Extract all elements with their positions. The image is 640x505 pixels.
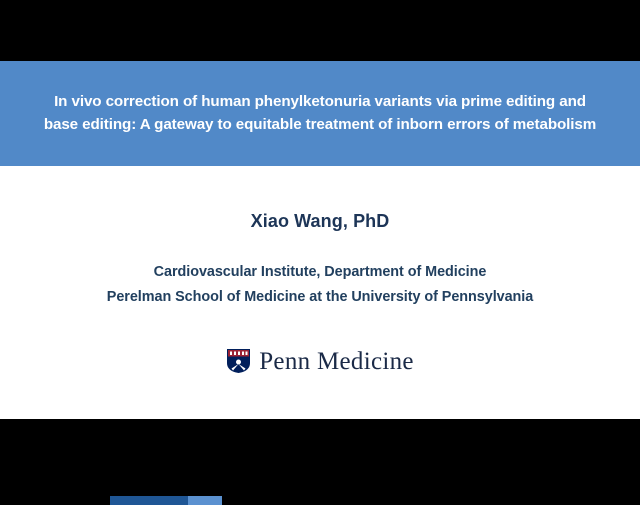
speaker-name: Xiao Wang, PhD <box>0 211 640 232</box>
affiliation-block: Cardiovascular Institute, Department of … <box>0 260 640 310</box>
accent-segment-light-blue <box>188 496 222 505</box>
letterbox-top <box>0 0 640 61</box>
affiliation-line-2: Perelman School of Medicine at the Unive… <box>0 285 640 310</box>
accent-segment-dark-blue <box>110 496 188 505</box>
slide-body: Xiao Wang, PhD Cardiovascular Institute,… <box>0 166 640 419</box>
affiliation-line-1: Cardiovascular Institute, Department of … <box>0 260 640 285</box>
penn-medicine-logo: Penn Medicine <box>0 348 640 374</box>
letterbox-bottom <box>0 419 640 480</box>
accent-segment-black <box>222 496 530 505</box>
penn-shield-icon <box>226 348 251 374</box>
video-player-frame: In vivo correction of human phenylketonu… <box>0 0 640 480</box>
slide-title: In vivo correction of human phenylketonu… <box>37 91 603 136</box>
penn-medicine-wordmark: Penn Medicine <box>259 349 414 374</box>
presentation-slide: In vivo correction of human phenylketonu… <box>0 61 640 419</box>
footer-accent-bar <box>110 496 530 505</box>
slide-header-band: In vivo correction of human phenylketonu… <box>0 61 640 166</box>
